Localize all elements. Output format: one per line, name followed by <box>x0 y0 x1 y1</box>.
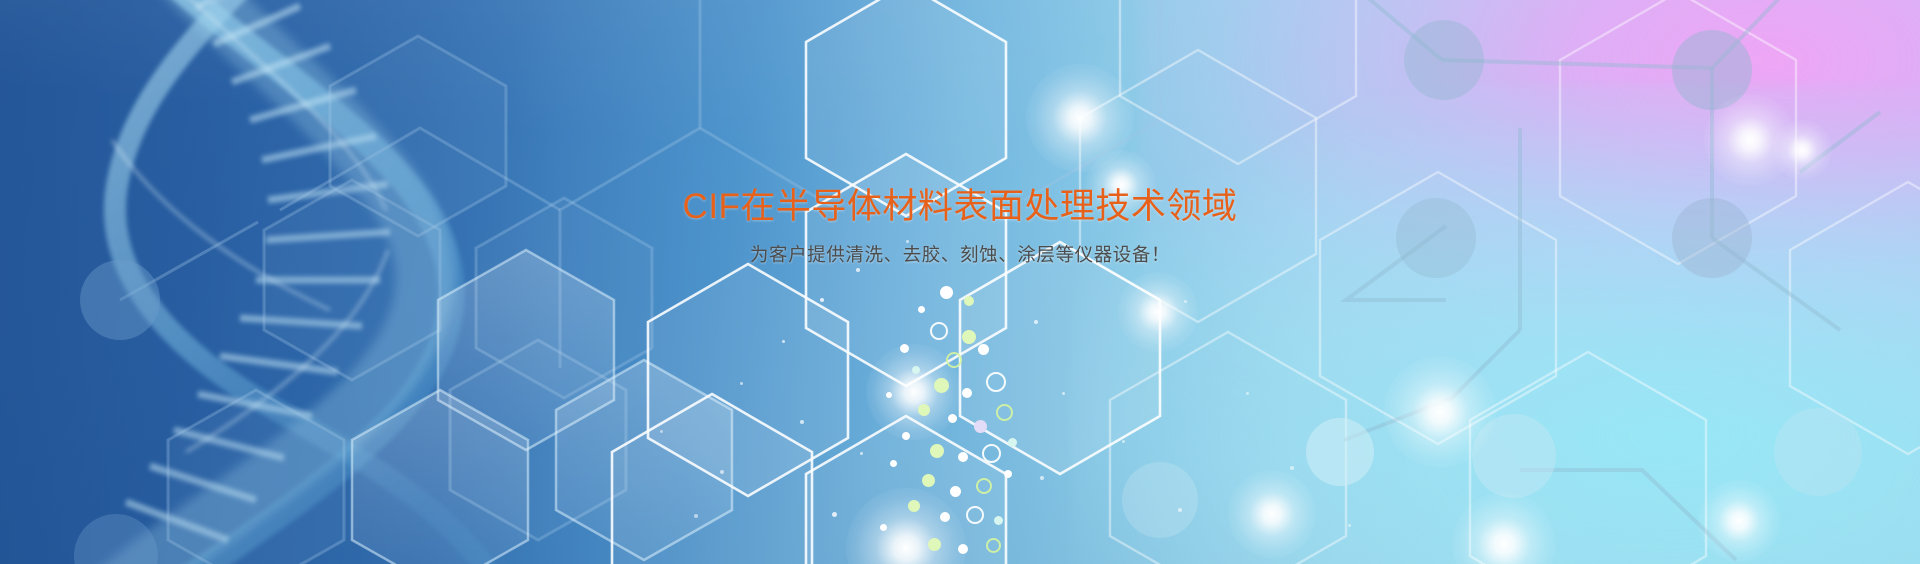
molecule-node-group-right <box>1306 20 1862 498</box>
hero-banner: CIF在半导体材料表面处理技术领域 为客户提供清洗、去胶、刻蚀、涂层等仪器设备！ <box>0 0 1920 564</box>
molecule-network-right <box>0 0 1920 564</box>
